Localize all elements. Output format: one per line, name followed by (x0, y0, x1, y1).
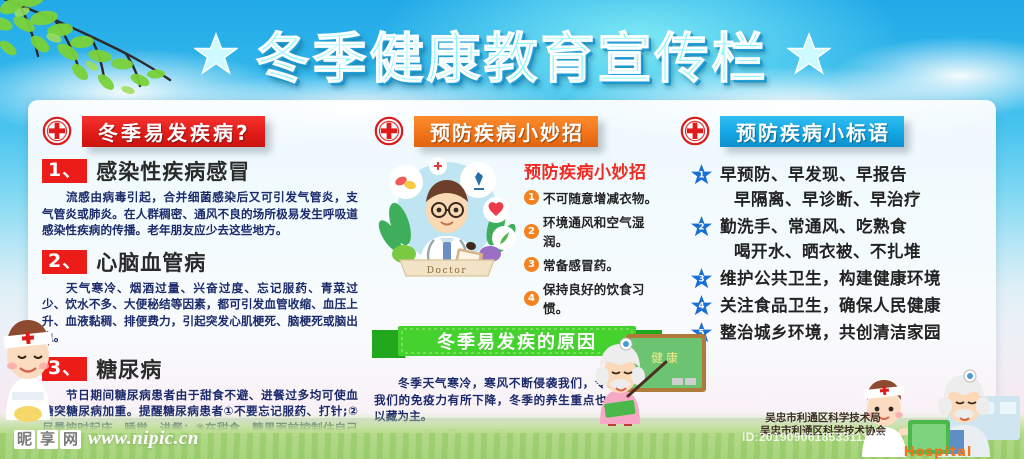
slogan-text: 维护公共卫生，构建健康环境 (720, 266, 941, 291)
nurse-illustration (0, 282, 60, 422)
tips-heading: 预防疾病小妙招 (524, 158, 668, 183)
svg-text:4: 4 (699, 301, 705, 311)
watermark-char: 网 (60, 430, 81, 449)
footer-line-1: 吴忠市利通区科学技术局 (728, 412, 918, 425)
star-icon (787, 32, 831, 76)
slogan-text: 勤洗手、常通风、吃熟食 喝开水、晒衣被、不扎堆 (720, 214, 921, 264)
slogan-item: 5 整治城乡环境，共创清洁家园 (690, 320, 988, 345)
section-title-middle: 预防疾病小妙招 (430, 117, 584, 146)
professor-blackboard-illustration: 健康 (596, 328, 712, 426)
tip-number: 2 (524, 224, 539, 239)
disease-item: 2、 心脑血管病 天气寒冷、烟酒过量、兴奋过度、忘记服药、青菜过少、饮水不多、大… (42, 247, 358, 346)
tip-number: 3 (524, 257, 539, 272)
disease-number: 1、 (42, 159, 87, 183)
slogan-item: 2 勤洗手、常通风、吃熟食 喝开水、晒衣被、不扎堆 (690, 214, 988, 264)
slogan-line-1: 勤洗手、常通风、吃熟食 (720, 217, 907, 236)
slogan-text: 早预防、早发现、早报告 早隔离、早诊断、早治疗 (720, 162, 921, 212)
disease-body: 天气寒冷、烟酒过量、兴奋过度、忘记服药、青菜过少、饮水不多、大便秘结等因素，都可… (42, 280, 358, 346)
slogan-item: 1 早预防、早发现、早报告 早隔离、早诊断、早治疗 (690, 162, 988, 212)
medical-cross-icon (42, 116, 72, 146)
watermark: 昵 享 网 www.nipic.cn (14, 428, 199, 450)
slogan-line-1: 维护公共卫生，构建健康环境 (720, 269, 941, 288)
tip-text: 常备感冒药。 (543, 255, 619, 274)
tip-number: 1 (524, 190, 539, 205)
watermark-url: www.nipic.cn (88, 428, 199, 450)
page-title: 冬季健康教育宣传栏 (256, 14, 769, 93)
disease-title: 糖尿病 (96, 354, 162, 384)
slogan-line-1: 整治城乡环境，共创清洁家园 (720, 323, 941, 342)
slogan-item: 3 维护公共卫生，构建健康环境 (690, 266, 988, 291)
medical-cross-icon (374, 116, 404, 146)
disease-item: 1、 感染性疾病感冒 流感由病毒引起，合并细菌感染后又可引发气管炎，支气管炎或肺… (42, 156, 358, 239)
watermark-char: 享 (37, 430, 58, 449)
star-bullet-icon: 2 (690, 215, 713, 238)
tip-text: 不可随意增减衣物。 (543, 188, 657, 207)
doctor-illustration: Doctor (374, 154, 520, 280)
slogan-text: 关注食品卫生，确保人民健康 (720, 293, 941, 318)
tip-text: 保持良好的饮食习惯。 (543, 279, 668, 317)
tip-item: 2 环境通风和空气湿润。 (524, 212, 668, 250)
watermark-logo: 昵 享 网 (14, 430, 81, 449)
disease-title: 心脑血管病 (96, 247, 206, 277)
doctor-ribbon-label: Doctor (427, 266, 468, 276)
star-icon (194, 32, 238, 76)
section-title-left: 冬季易发疾病? (98, 117, 251, 146)
star-bullet-icon: 4 (690, 294, 713, 317)
tip-item: 3 常备感冒药。 (524, 255, 668, 274)
slogan-text: 整治城乡环境，共创清洁家园 (720, 320, 941, 345)
content-panel: 冬季易发疾病? 1、 感染性疾病感冒 流感由病毒引起，合并细菌感染后又可引发气管… (28, 100, 996, 418)
tip-text: 环境通风和空气湿润。 (543, 212, 668, 250)
slogan-line-1: 早预防、早发现、早报告 (720, 165, 907, 184)
section-header-right: 预防疾病小标语 (680, 114, 988, 148)
slogan-line-2: 早隔离、早诊断、早治疗 (720, 187, 921, 212)
tip-number: 4 (524, 291, 539, 306)
disease-number: 2、 (42, 250, 87, 274)
svg-text:1: 1 (699, 170, 705, 180)
section-banner-middle: 预防疾病小妙招 (414, 116, 598, 147)
slogan-line-1: 关注食品卫生，确保人民健康 (720, 296, 941, 315)
footer-id-code: ID:2019090618533111:2000 (742, 430, 901, 444)
slogan-line-2: 喝开水、晒衣被、不扎堆 (720, 239, 921, 264)
section-banner-left: 冬季易发疾病? (82, 116, 265, 147)
section-banner-right: 预防疾病小标语 (720, 116, 904, 147)
section-header-left: 冬季易发疾病? (42, 114, 358, 148)
svg-text:2: 2 (699, 222, 705, 232)
medical-cross-icon (680, 116, 710, 146)
section-title-right: 预防疾病小标语 (736, 117, 890, 146)
star-bullet-icon: 3 (690, 267, 713, 290)
tip-item: 1 不可随意增减衣物。 (524, 188, 668, 207)
watermark-char: 昵 (14, 430, 35, 449)
disease-title: 感染性疾病感冒 (96, 156, 250, 186)
tip-item: 4 保持良好的饮食习惯。 (524, 279, 668, 317)
slogan-item: 4 关注食品卫生，确保人民健康 (690, 293, 988, 318)
disease-body: 流感由病毒引起，合并细菌感染后又可引发气管炎，支气管炎或肺炎。在人群稠密、通风不… (42, 189, 358, 239)
star-bullet-icon: 1 (690, 163, 713, 186)
section-header-middle: 预防疾病小妙招 (374, 114, 668, 148)
poster-title-bar: 冬季健康教育宣传栏 (0, 14, 1024, 93)
prevention-tips-list: 预防疾病小妙招 1 不可随意增减衣物。 2 环境通风和空气湿润。 3 常备感冒药… (524, 154, 668, 322)
hospital-sign-text: Hospital (904, 445, 973, 459)
svg-text:3: 3 (699, 274, 705, 284)
column-common-winter-diseases: 冬季易发疾病? 1、 感染性疾病感冒 流感由病毒引起，合并细菌感染后又可引发气管… (28, 100, 368, 418)
ribbon-title: 冬季易发疾的原因 (437, 331, 597, 353)
poster-canvas: 冬季健康教育宣传栏 冬季易发疾病? (0, 0, 1024, 459)
